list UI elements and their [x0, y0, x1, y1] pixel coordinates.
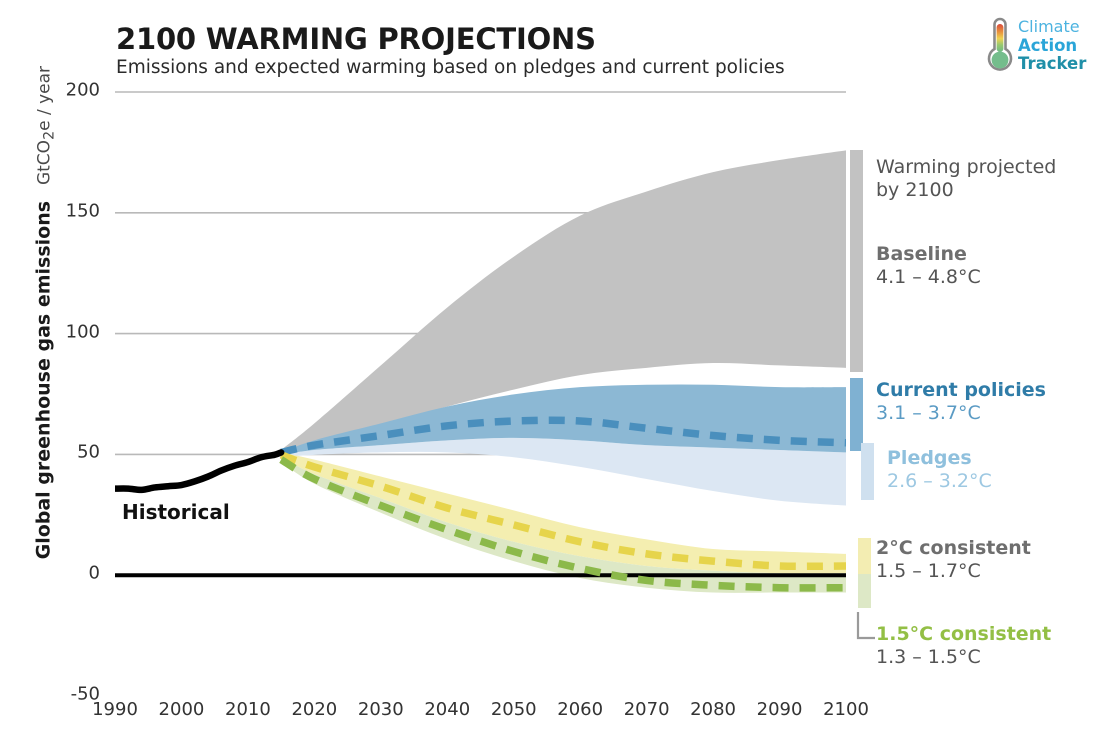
x-tick-2030: 2030 [358, 699, 404, 720]
legend-swatch-two-degree [858, 538, 871, 574]
logo-line-3: Tracker [1018, 55, 1086, 74]
legend-swatch-current-policies [850, 378, 863, 451]
y-axis-title-main: Global greenhouse gas emissions [32, 201, 54, 559]
legend-range-current-policies: 3.1 – 3.7°C [876, 402, 1046, 425]
x-tick-2090: 2090 [757, 699, 803, 720]
y-tick-200: 200 [0, 80, 100, 101]
legend-label-pledges: Pledges [887, 447, 992, 470]
legend-range-baseline: 4.1 – 4.8°C [876, 266, 981, 289]
logo-line-1: Climate [1018, 18, 1086, 37]
legend-note-line2: by 2100 [876, 179, 1056, 202]
x-tick-2010: 2010 [225, 699, 271, 720]
legend-range-onefive-degree: 1.3 – 1.5°C [876, 646, 1051, 669]
thermometer-icon [984, 16, 1016, 76]
legend-range-two-degree: 1.5 – 1.7°C [876, 560, 1031, 583]
page-subtitle: Emissions and expected warming based on … [116, 57, 785, 78]
historical-label: Historical [122, 500, 230, 524]
x-tick-2080: 2080 [690, 699, 736, 720]
historical-line [115, 452, 281, 489]
legend-item-pledges: Pledges 2.6 – 3.2°C [887, 447, 992, 493]
legend-swatch-baseline [850, 150, 863, 372]
legend-range-pledges: 2.6 – 3.2°C [887, 470, 992, 493]
y-tick-150: 150 [0, 200, 100, 221]
x-tick-1990: 1990 [92, 699, 138, 720]
legend-label-onefive-degree: 1.5°C consistent [876, 623, 1051, 646]
x-tick-2100: 2100 [823, 699, 869, 720]
legend-item-baseline: Baseline 4.1 – 4.8°C [876, 243, 981, 289]
legend-label-current-policies: Current policies [876, 379, 1046, 402]
legend-item-onefive-degree: 1.5°C consistent 1.3 – 1.5°C [876, 623, 1051, 669]
y-tick-100: 100 [0, 321, 100, 342]
x-tick-2020: 2020 [291, 699, 337, 720]
legend-elbow-connector [855, 612, 877, 642]
x-tick-2050: 2050 [491, 699, 537, 720]
legend-note: Warming projected by 2100 [876, 156, 1056, 202]
legend-label-two-degree: 2°C consistent [876, 537, 1031, 560]
legend-swatch-pledges [861, 443, 874, 500]
legend-swatch-onefive-degree [858, 574, 871, 608]
logo-line-2: Action [1018, 37, 1086, 56]
legend-item-current-policies: Current policies 3.1 – 3.7°C [876, 379, 1046, 425]
y-tick--50: -50 [0, 684, 100, 705]
projection-chart [115, 90, 846, 694]
legend-item-two-degree: 2°C consistent 1.5 – 1.7°C [876, 537, 1031, 583]
legend-label-baseline: Baseline [876, 243, 981, 266]
x-tick-2070: 2070 [624, 699, 670, 720]
x-tick-2000: 2000 [159, 699, 205, 720]
legend-note-line1: Warming projected [876, 156, 1056, 179]
y-tick-0: 0 [0, 563, 100, 584]
chart-page: 2100 WARMING PROJECTIONS Emissions and e… [0, 0, 1110, 745]
climate-action-tracker-logo: Climate Action Tracker [984, 16, 1106, 78]
x-tick-2060: 2060 [557, 699, 603, 720]
y-tick-50: 50 [0, 442, 100, 463]
page-title: 2100 WARMING PROJECTIONS [116, 22, 596, 56]
plot-area [115, 90, 846, 694]
x-tick-2040: 2040 [424, 699, 470, 720]
